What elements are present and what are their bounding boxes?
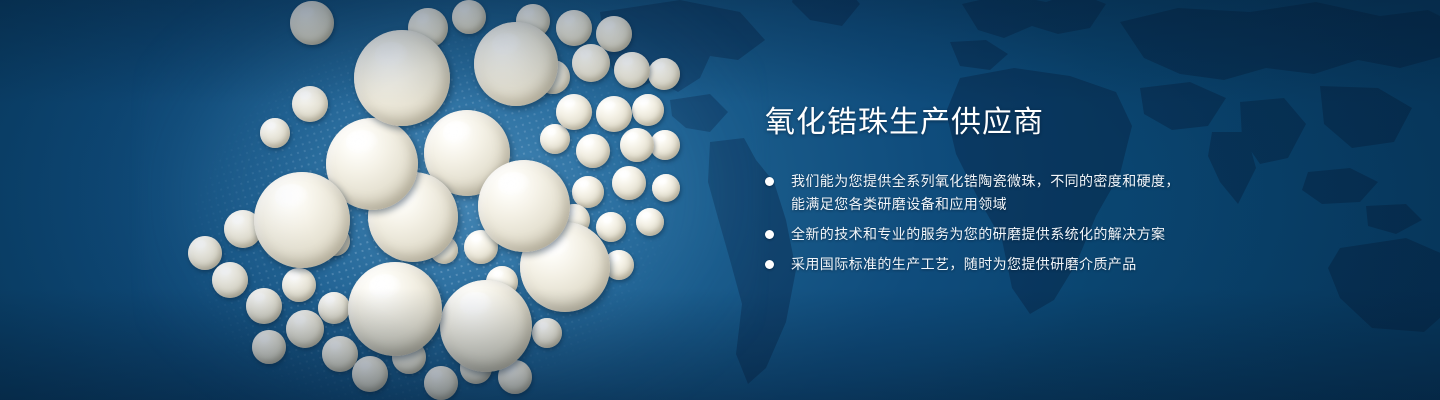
list-item-line: 我们能为您提供全系列氧化锆陶瓷微珠，不同的密度和硬度， [791, 170, 1365, 193]
list-item-line: 全新的技术和专业的服务为您的研磨提供系统化的解决方案 [791, 223, 1365, 246]
bullet-dot-icon [765, 260, 774, 269]
list-item-line: 能满足您各类研磨设备和应用领域 [791, 193, 1365, 216]
hero-banner: 氧化锆珠生产供应商 我们能为您提供全系列氧化锆陶瓷微珠，不同的密度和硬度， 能满… [0, 0, 1440, 400]
list-item: 我们能为您提供全系列氧化锆陶瓷微珠，不同的密度和硬度， 能满足您各类研磨设备和应… [765, 170, 1365, 216]
bullet-dot-icon [765, 230, 774, 239]
banner-copy: 氧化锆珠生产供应商 我们能为您提供全系列氧化锆陶瓷微珠，不同的密度和硬度， 能满… [765, 104, 1365, 283]
page-title: 氧化锆珠生产供应商 [765, 104, 1365, 142]
bullet-dot-icon [765, 177, 774, 186]
list-item: 采用国际标准的生产工艺，随时为您提供研磨介质产品 [765, 253, 1365, 276]
feature-list: 我们能为您提供全系列氧化锆陶瓷微珠，不同的密度和硬度， 能满足您各类研磨设备和应… [765, 170, 1365, 276]
list-item: 全新的技术和专业的服务为您的研磨提供系统化的解决方案 [765, 223, 1365, 246]
list-item-line: 采用国际标准的生产工艺，随时为您提供研磨介质产品 [791, 253, 1365, 276]
